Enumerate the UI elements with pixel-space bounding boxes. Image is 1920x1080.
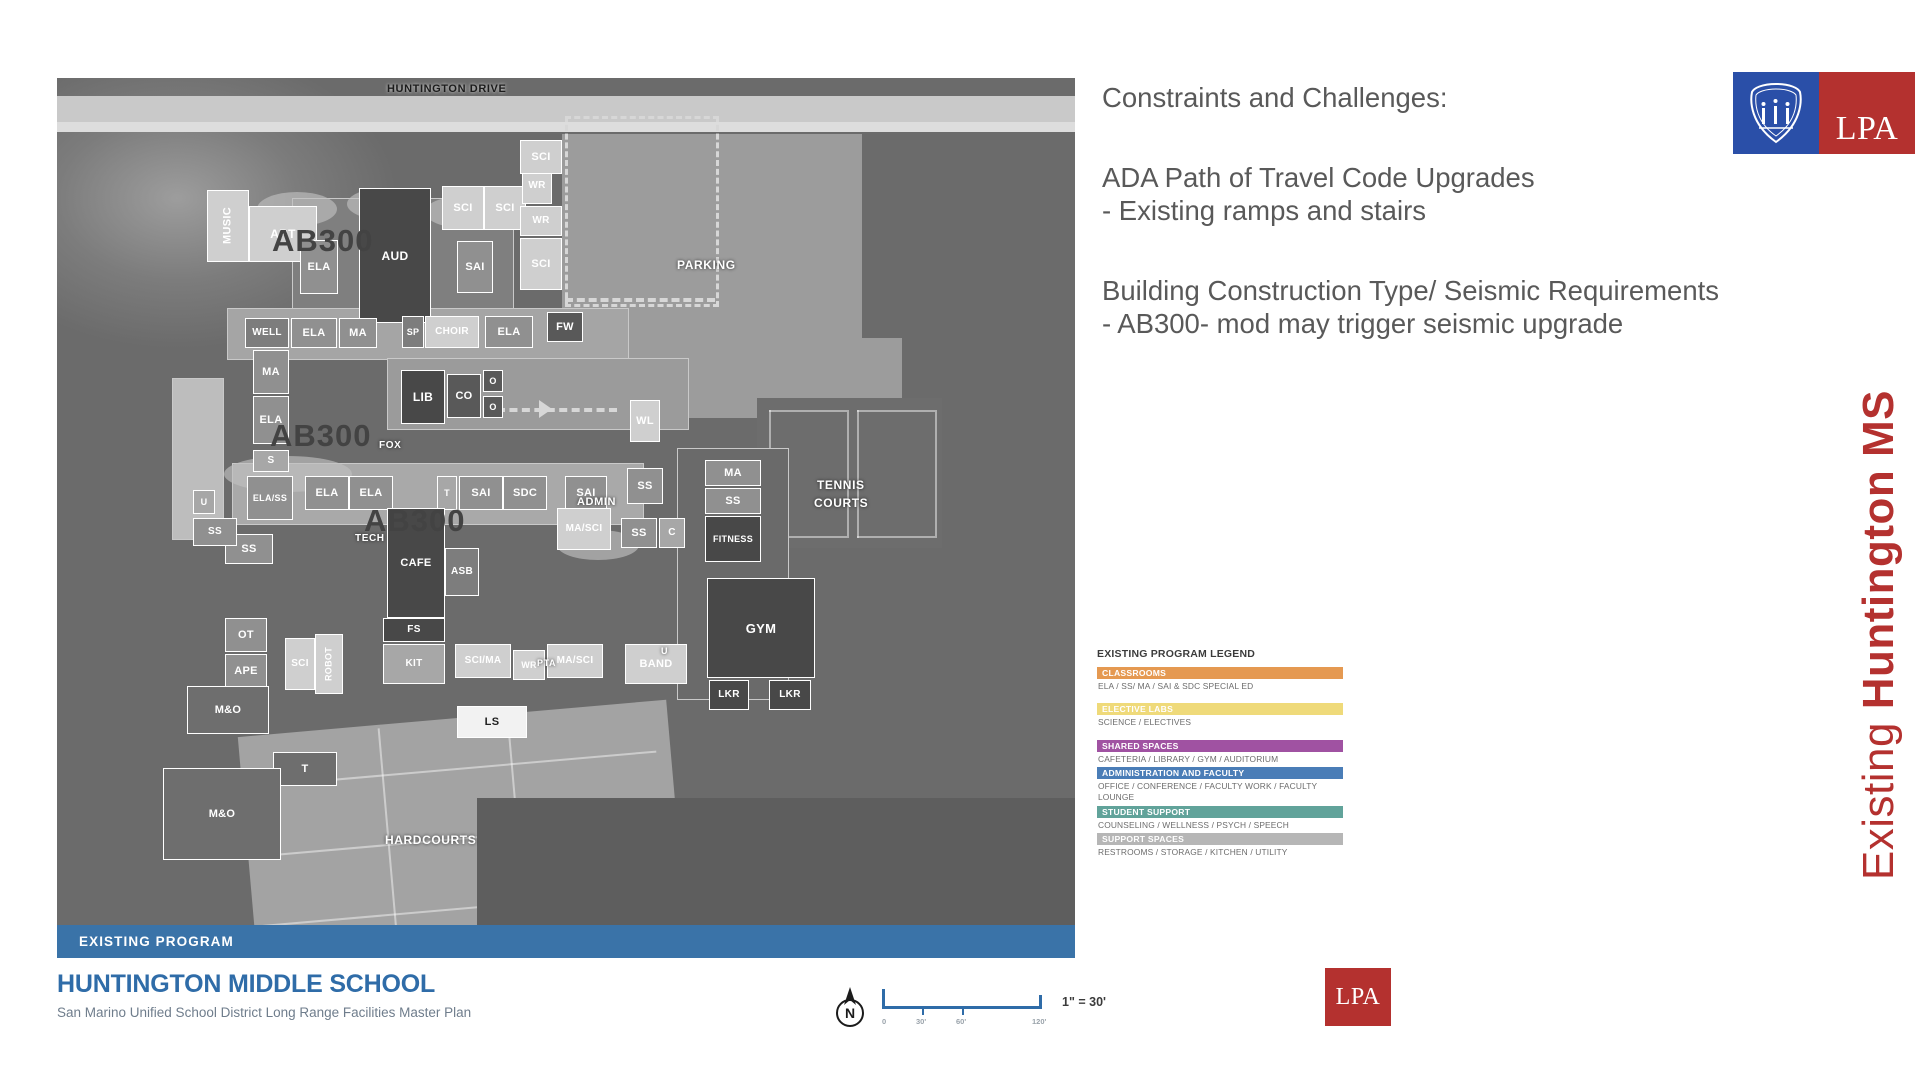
school-crest-icon [1733, 72, 1819, 154]
legend-item-description: CAFETERIA / LIBRARY / GYM / AUDITORIUM [1097, 754, 1343, 765]
program-block-ma: MA [253, 350, 289, 394]
program-block-lkr: LKR [709, 680, 749, 710]
program-block-ela: ELA [485, 316, 533, 348]
program-block-fs: FS [383, 618, 445, 642]
slide-vertical-title: Existing Huntington MS [1854, 390, 1904, 880]
scale-group: N 0 30' 60' 120' 1" = 30' [830, 975, 1080, 1035]
program-block-ela: ELA [291, 318, 337, 348]
existing-program-banner-label: EXISTING PROGRAM [79, 934, 234, 949]
lpa-logo-bottom-text: LPA [1336, 984, 1381, 1011]
tennis-line [857, 410, 859, 538]
legend-item-description: RESTROOMS / STORAGE / KITCHEN / UTILITY [1097, 847, 1343, 858]
legend-color-bar: CLASSROOMS [1097, 667, 1343, 679]
legend-item-name: CLASSROOMS [1102, 668, 1166, 678]
program-block-sp: SP [402, 316, 424, 348]
ab300-marker: AB300 [270, 418, 372, 454]
program-block-music: MUSIC [207, 190, 249, 262]
legend-item-name: STUDENT SUPPORT [1102, 807, 1190, 817]
program-block-sci: SCI [285, 638, 315, 690]
lpa-logo-top: LPA [1819, 72, 1915, 154]
program-block-u: U [193, 490, 215, 514]
legend-spacer [1097, 694, 1343, 703]
lpa-logo-top-text: LPA [1836, 110, 1899, 148]
program-block-asb: ASB [445, 548, 479, 596]
tennis-line [769, 410, 847, 412]
program-block-o: O [483, 396, 503, 418]
scale-bar-start-tick [882, 989, 885, 1009]
legend-color-bar: SHARED SPACES [1097, 740, 1343, 752]
legend-spacer [1097, 731, 1343, 740]
legend-item: SUPPORT SPACESRESTROOMS / STORAGE / KITC… [1097, 833, 1343, 858]
ada-path-dashed-box [565, 116, 719, 307]
program-block-fitness: FITNESS [705, 516, 761, 562]
legend-title: EXISTING PROGRAM LEGEND [1097, 648, 1343, 660]
site-label-tennis: TENNIS [817, 478, 865, 492]
seismic-title: Building Construction Type/ Seismic Requ… [1102, 275, 1802, 307]
legend-item: ELECTIVE LABSSCIENCE / ELECTIVES [1097, 703, 1343, 728]
seismic-detail: - AB300- mod may trigger seismic upgrade [1102, 308, 1802, 340]
program-block-ls: LS [457, 706, 527, 738]
scale-tick-label: 120' [1032, 1017, 1046, 1026]
legend-item-description: OFFICE / CONFERENCE / FACULTY WORK / FAC… [1097, 781, 1343, 804]
legend-item-description: COUNSELING / WELLNESS / PSYCH / SPEECH [1097, 820, 1343, 831]
site-label-parking: PARKING [677, 258, 736, 272]
legend-item: ADMINISTRATION AND FACULTYOFFICE / CONFE… [1097, 767, 1343, 804]
site-label-pta: PTA [537, 658, 556, 668]
tennis-line [857, 410, 935, 412]
ab300-marker: AB300 [272, 223, 374, 259]
program-block-ss: SS [621, 518, 657, 548]
program-block-ela: ELA [305, 476, 349, 510]
legend-item-name: ADMINISTRATION AND FACULTY [1102, 768, 1244, 778]
ab300-marker: AB300 [364, 503, 466, 539]
site-label-admin: ADMIN [577, 496, 616, 508]
tennis-line [857, 536, 935, 538]
site-label-courts: COURTS [814, 496, 868, 510]
vertical-title-prefix: Existing [1854, 709, 1903, 880]
constraints-and-challenges-text: Constraints and Challenges: ADA Path of … [1102, 82, 1802, 340]
scale-tick [922, 1006, 924, 1015]
program-block-m-o: M&O [187, 686, 269, 734]
legend-item-name: SHARED SPACES [1102, 741, 1179, 751]
program-block-well: WELL [245, 318, 289, 348]
program-block-t: T [273, 752, 337, 786]
program-block-wr: WR [520, 206, 562, 236]
constraints-heading: Constraints and Challenges: [1102, 82, 1802, 114]
program-block-ma-sci: MA/SCI [557, 508, 611, 550]
program-block-ape: APE [225, 654, 267, 688]
tennis-line [847, 410, 849, 538]
scale-tick [962, 1006, 964, 1015]
legend-color-bar: SUPPORT SPACES [1097, 833, 1343, 845]
scale-bar-end-tick [1039, 995, 1042, 1009]
program-block-choir: CHOIR [425, 316, 479, 348]
legend-color-bar: ELECTIVE LABS [1097, 703, 1343, 715]
existing-program-banner: EXISTING PROGRAM [57, 925, 1075, 958]
site-plan-panel: ☆ MUSICARTAUDSCISCIWRSCIWRSCIELASAIWELLM… [57, 78, 1075, 958]
legend-item-description: ELA / SS/ MA / SAI & SDC SPECIAL ED [1097, 681, 1343, 692]
program-block-ma: MA [339, 318, 377, 348]
legend-item: SHARED SPACESCAFETERIA / LIBRARY / GYM /… [1097, 740, 1343, 765]
program-block-ss: SS [627, 468, 663, 504]
program-block-ela-ss: ELA/SS [247, 476, 293, 520]
ada-path-line [497, 408, 617, 412]
legend-item-name: SUPPORT SPACES [1102, 834, 1184, 844]
aerial-site-map: ☆ MUSICARTAUDSCISCIWRSCIWRSCIELASAIWELLM… [57, 78, 1075, 958]
program-block-fw: FW [547, 312, 583, 342]
program-block-sci: SCI [442, 186, 484, 230]
north-label: N [845, 1005, 855, 1021]
scale-tick-label: 60' [956, 1017, 966, 1026]
building-footprint [172, 378, 224, 540]
site-label-hardcourts: HARDCOURTS [385, 833, 476, 847]
program-block-sci: SCI [520, 238, 562, 290]
legend-item: CLASSROOMSELA / SS/ MA / SAI & SDC SPECI… [1097, 667, 1343, 692]
legend-color-bar: STUDENT SUPPORT [1097, 806, 1343, 818]
legend-color-bar: ADMINISTRATION AND FACULTY [1097, 767, 1343, 779]
program-block-ss: SS [705, 488, 761, 514]
program-block-wl: WL [630, 400, 660, 442]
program-block-band: BAND [625, 644, 687, 684]
ada-path-arrow [539, 400, 552, 418]
program-block-c: C [659, 518, 685, 548]
ada-upgrade-detail: - Existing ramps and stairs [1102, 195, 1802, 227]
lpa-logo-bottom: LPA [1325, 968, 1391, 1026]
program-block-lkr: LKR [769, 680, 811, 710]
program-block-gym: GYM [707, 578, 815, 678]
ada-path-line [565, 298, 715, 302]
legend-item-name: ELECTIVE LABS [1102, 704, 1173, 714]
program-block-sdc: SDC [503, 476, 547, 510]
program-block-robot: ROBOT [315, 634, 343, 694]
ada-upgrade-title: ADA Path of Travel Code Upgrades [1102, 162, 1802, 194]
site-label-fox: FOX [379, 440, 401, 451]
school-name-title: HUNTINGTON MIDDLE SCHOOL [57, 970, 697, 999]
scale-tick-label: 0 [882, 1017, 886, 1026]
program-block-ot: OT [225, 618, 267, 652]
scale-ratio-label: 1" = 30' [1062, 995, 1106, 1009]
crest-shield-icon [1746, 80, 1806, 146]
program-block-ma: MA [705, 460, 761, 486]
program-block-sai: SAI [459, 476, 503, 510]
program-block-kit: KIT [383, 644, 445, 684]
program-block-m-o: M&O [163, 768, 281, 860]
program-block-o: O [483, 370, 503, 392]
map-caption: HUNTINGTON MIDDLE SCHOOL San Marino Unif… [57, 970, 697, 1020]
district-subtitle: San Marino Unified School District Long … [57, 1005, 697, 1020]
logo-group: LPA [1733, 72, 1915, 154]
site-label-u: U [661, 646, 668, 656]
program-block-sci-ma: SCI/MA [455, 644, 511, 678]
legend-items: CLASSROOMSELA / SS/ MA / SAI & SDC SPECI… [1097, 667, 1343, 858]
program-block-ss: SS [193, 518, 237, 546]
existing-program-legend: EXISTING PROGRAM LEGEND CLASSROOMSELA / … [1097, 648, 1343, 860]
scale-bar: 0 30' 60' 120' [882, 989, 1042, 1019]
scale-tick-label: 30' [916, 1017, 926, 1026]
tennis-line [935, 410, 937, 538]
program-block-sci: SCI [520, 140, 562, 174]
program-block-sai: SAI [457, 241, 493, 293]
program-block-lib: LIB [401, 370, 445, 424]
site-label-huntington-drive: HUNTINGTON DRIVE [387, 83, 506, 95]
legend-item-description: SCIENCE / ELECTIVES [1097, 717, 1343, 728]
vertical-title-bold: Huntington MS [1854, 390, 1903, 709]
legend-item: STUDENT SUPPORTCOUNSELING / WELLNESS / P… [1097, 806, 1343, 831]
program-block-co: CO [447, 374, 481, 418]
